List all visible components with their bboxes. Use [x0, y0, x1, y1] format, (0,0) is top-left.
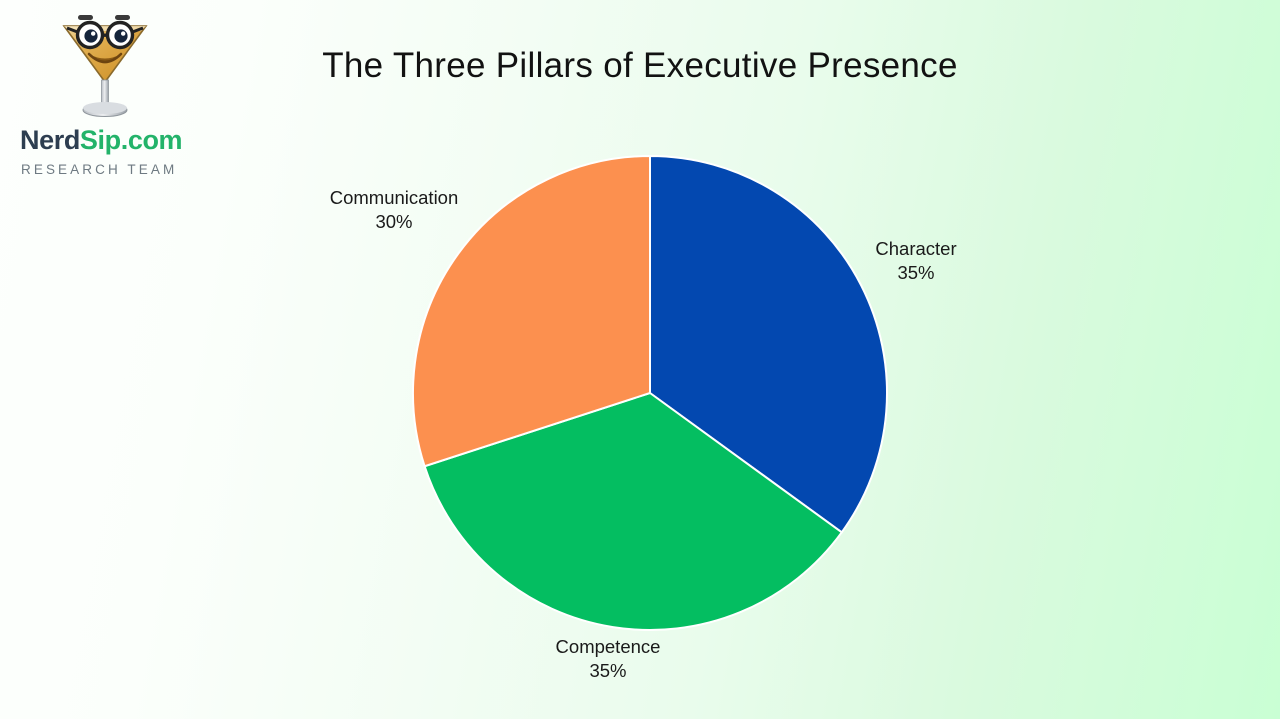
slide-canvas: NerdSip.com RESEARCH TEAM The Three Pill…: [0, 0, 1280, 719]
pie-label-character: Character 35%: [846, 237, 986, 284]
pie-label-competence-name: Competence: [556, 636, 661, 657]
pie-label-competence: Competence 35%: [528, 635, 688, 682]
pie-chart: [0, 0, 1280, 719]
pie-label-character-value: 35%: [846, 261, 986, 285]
pie-label-communication-value: 30%: [316, 210, 472, 234]
pie-chart-svg: [0, 0, 1280, 719]
pie-label-communication: Communication 30%: [316, 186, 472, 233]
pie-label-competence-value: 35%: [528, 659, 688, 683]
pie-slice-group: [413, 156, 887, 630]
pie-label-character-name: Character: [875, 238, 956, 259]
pie-label-communication-name: Communication: [330, 187, 459, 208]
